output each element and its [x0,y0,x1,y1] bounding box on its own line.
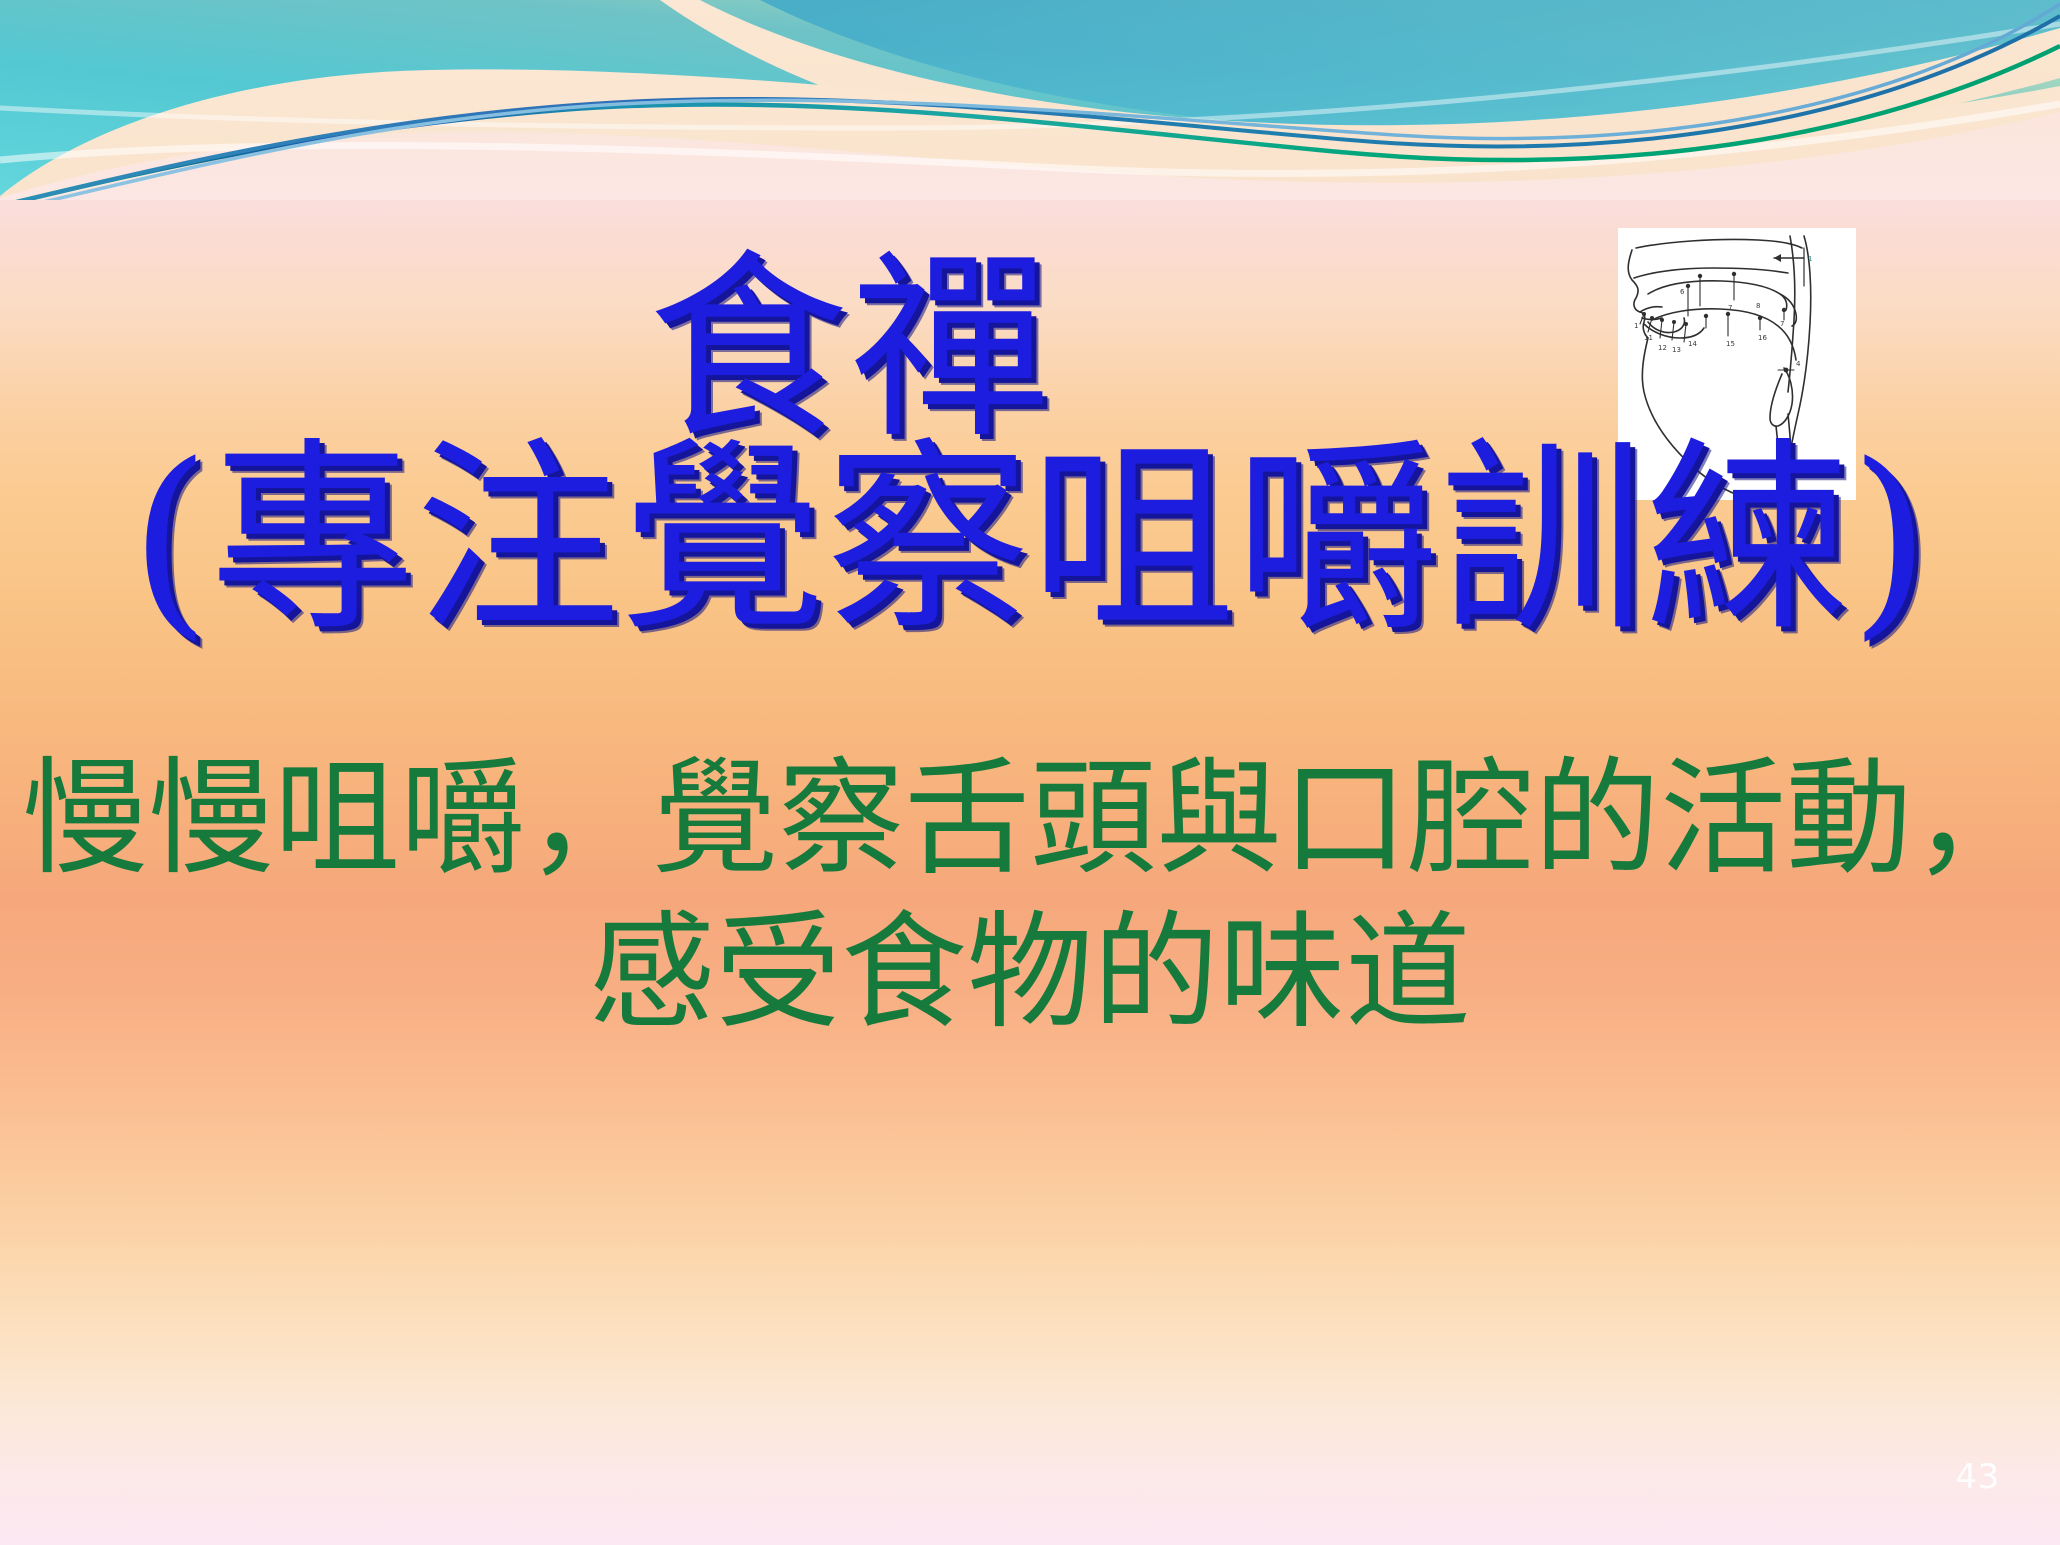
slide-title-line-2: (專注覺察咀嚼訓練) [0,415,2060,665]
page-number: 43 [1955,1457,2000,1497]
slide-subtitle-line-2: 感受食物的味道 [0,896,2060,1050]
slide-text-block: 食禪 (專注覺察咀嚼訓練) 慢慢咀嚼，覺察舌頭與口腔的活動， 感受食物的味道 [0,0,2060,1545]
slide-canvas: 1 7 8 7 6 1 11 12 13 14 15 16 4 10 食禪 (專… [0,0,2060,1545]
slide-subtitle: 慢慢咀嚼，覺察舌頭與口腔的活動， 感受食物的味道 [0,742,2060,1049]
slide-subtitle-line-1: 慢慢咀嚼，覺察舌頭與口腔的活動， [22,745,2038,892]
